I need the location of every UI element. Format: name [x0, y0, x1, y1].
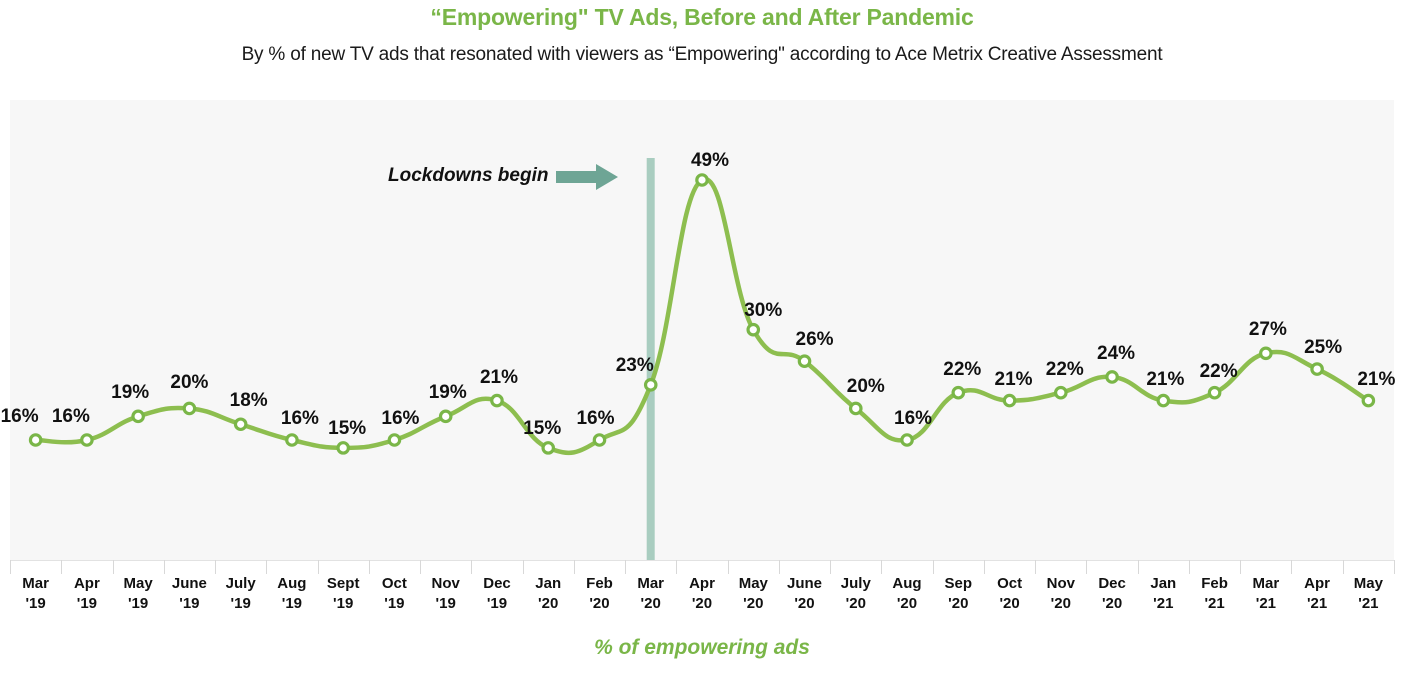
x-axis-tick-label: Dec'20 [1098, 574, 1126, 614]
axis-tick [1189, 560, 1190, 574]
x-label-month: Dec [483, 575, 511, 592]
axis-tick [779, 560, 780, 574]
data-point-marker[interactable] [1209, 388, 1219, 398]
x-axis-tick-label: July'19 [226, 574, 256, 614]
data-point-label: 30% [744, 300, 782, 322]
axis-tick-group [10, 560, 1394, 574]
x-axis-tick-label: Mar'21 [1253, 574, 1280, 614]
x-label-year: '20 [535, 594, 561, 614]
data-point-label: 16% [1, 406, 39, 428]
data-point-marker[interactable] [799, 356, 809, 366]
x-label-year: '19 [432, 594, 460, 614]
x-axis-tick-label: Jan'21 [1150, 574, 1176, 614]
x-label-year: '20 [787, 594, 822, 614]
data-point-marker[interactable] [82, 435, 92, 445]
x-label-month: Apr [74, 575, 100, 592]
axis-tick [1394, 560, 1395, 574]
data-point-label: 16% [281, 408, 319, 430]
x-label-month: Nov [432, 575, 460, 592]
x-axis-labels: Mar'19Apr'19May'19June'19July'19Aug'19Se… [10, 574, 1394, 622]
data-point-marker[interactable] [697, 175, 707, 185]
x-axis-tick-label: Oct'20 [997, 574, 1022, 614]
data-point-marker[interactable] [1312, 364, 1322, 374]
axis-tick [1086, 560, 1087, 574]
x-label-month: Feb [1201, 575, 1228, 592]
x-label-year: '19 [277, 594, 306, 614]
x-axis-tick-label: Mar'19 [22, 574, 49, 614]
x-label-year: '20 [841, 594, 871, 614]
data-point-marker[interactable] [851, 403, 861, 413]
x-label-year: '20 [637, 594, 664, 614]
data-point-label: 18% [230, 390, 268, 412]
data-point-label: 21% [1357, 369, 1395, 391]
lockdown-annotation-label: Lockdowns begin [388, 165, 548, 187]
x-label-year: '20 [997, 594, 1022, 614]
data-point-marker[interactable] [1158, 395, 1168, 405]
data-point-label: 21% [480, 367, 518, 389]
axis-tick [61, 560, 62, 574]
data-point-label: 22% [1046, 359, 1084, 381]
axis-tick [164, 560, 165, 574]
x-label-month: Sept [327, 575, 360, 592]
axis-tick [1035, 560, 1036, 574]
x-label-year: '20 [945, 594, 973, 614]
data-point-marker[interactable] [389, 435, 399, 445]
data-point-marker[interactable] [492, 395, 502, 405]
data-point-label: 24% [1097, 343, 1135, 365]
x-axis-tick-label: Dec'19 [483, 574, 511, 614]
x-label-month: Mar [1253, 575, 1280, 592]
x-label-month: Jan [1150, 575, 1176, 592]
x-label-year: '19 [172, 594, 207, 614]
axis-tick [266, 560, 267, 574]
x-axis-tick-label: Nov'19 [432, 574, 460, 614]
page-subtitle: By % of new TV ads that resonated with v… [0, 44, 1404, 66]
axis-tick [574, 560, 575, 574]
x-axis-tick-label: Feb'21 [1201, 574, 1228, 614]
data-point-label: 16% [381, 408, 419, 430]
axis-tick [676, 560, 677, 574]
data-point-marker[interactable] [1056, 388, 1066, 398]
data-point-marker[interactable] [748, 325, 758, 335]
data-point-marker[interactable] [1004, 395, 1014, 405]
x-axis-tick-label: June'19 [172, 574, 207, 614]
x-axis-tick-label: Sept'19 [327, 574, 360, 614]
x-label-year: '20 [892, 594, 921, 614]
data-point-label: 16% [576, 408, 614, 430]
x-label-year: '21 [1253, 594, 1280, 614]
data-point-label: 21% [1146, 369, 1184, 391]
axis-tick [830, 560, 831, 574]
x-label-year: '20 [1098, 594, 1126, 614]
x-label-month: July [841, 575, 871, 592]
data-point-label: 21% [995, 369, 1033, 391]
data-point-marker[interactable] [902, 435, 912, 445]
data-point-marker[interactable] [1107, 372, 1117, 382]
data-point-label: 20% [170, 372, 208, 394]
x-label-month: May [1354, 575, 1383, 592]
axis-tick [215, 560, 216, 574]
data-point-label: 15% [523, 418, 561, 440]
x-label-year: '21 [1354, 594, 1383, 614]
x-axis-tick-label: Jan'20 [535, 574, 561, 614]
data-point-marker[interactable] [1363, 395, 1373, 405]
x-axis-tick-label: Apr'20 [689, 574, 715, 614]
x-label-year: '21 [1304, 594, 1330, 614]
axis-tick [10, 560, 11, 574]
x-axis-tick-label: July'20 [841, 574, 871, 614]
data-point-marker[interactable] [441, 411, 451, 421]
data-point-marker[interactable] [338, 443, 348, 453]
x-label-year: '20 [586, 594, 613, 614]
x-label-month: Nov [1047, 575, 1075, 592]
x-label-month: May [124, 575, 153, 592]
data-point-marker[interactable] [235, 419, 245, 429]
x-axis-tick-label: May'19 [124, 574, 153, 614]
x-label-month: Aug [892, 575, 921, 592]
data-point-label: 49% [691, 150, 729, 172]
axis-tick [523, 560, 524, 574]
x-label-month: Apr [1304, 575, 1330, 592]
x-axis-tick-label: Sep'20 [945, 574, 973, 614]
x-label-month: July [226, 575, 256, 592]
axis-caption: % of empowering ads [0, 636, 1404, 660]
x-axis-tick-label: June'20 [787, 574, 822, 614]
data-point-marker[interactable] [287, 435, 297, 445]
x-label-year: '19 [22, 594, 49, 614]
x-label-month: May [739, 575, 768, 592]
axis-tick [113, 560, 114, 574]
data-point-label: 25% [1304, 337, 1342, 359]
x-axis-tick-label: Aug'19 [277, 574, 306, 614]
data-point-marker[interactable] [30, 435, 40, 445]
data-point-marker[interactable] [953, 388, 963, 398]
right-arrow-icon [556, 164, 618, 190]
axis-tick [984, 560, 985, 574]
x-label-year: '21 [1150, 594, 1176, 614]
axis-tick [1343, 560, 1344, 574]
x-label-month: June [172, 575, 207, 592]
x-axis-tick-label: Oct'19 [382, 574, 407, 614]
data-point-marker[interactable] [1261, 348, 1271, 358]
data-point-label: 15% [328, 418, 366, 440]
data-point-label: 22% [1200, 361, 1238, 383]
data-point-label: 16% [52, 406, 90, 428]
x-label-year: '19 [124, 594, 153, 614]
data-point-marker[interactable] [184, 403, 194, 413]
axis-tick [1138, 560, 1139, 574]
x-label-month: Oct [382, 575, 407, 592]
x-label-month: Oct [997, 575, 1022, 592]
data-point-marker[interactable] [133, 411, 143, 421]
x-label-month: Sep [945, 575, 973, 592]
x-label-year: '19 [483, 594, 511, 614]
x-label-year: '19 [382, 594, 407, 614]
x-label-year: '19 [226, 594, 256, 614]
x-axis-tick-label: Apr'21 [1304, 574, 1330, 614]
page-title: “Empowering" TV Ads, Before and After Pa… [0, 4, 1404, 31]
data-point-marker[interactable] [646, 380, 656, 390]
axis-tick [369, 560, 370, 574]
axis-tick [318, 560, 319, 574]
data-point-label: 19% [429, 382, 467, 404]
x-label-month: Apr [689, 575, 715, 592]
axis-tick [1240, 560, 1241, 574]
x-label-year: '20 [689, 594, 715, 614]
data-point-label: 16% [894, 408, 932, 430]
x-label-year: '19 [74, 594, 100, 614]
data-point-marker[interactable] [594, 435, 604, 445]
x-label-year: '20 [739, 594, 768, 614]
axis-tick [881, 560, 882, 574]
axis-tick [625, 560, 626, 574]
x-axis-tick-label: Aug'20 [892, 574, 921, 614]
x-label-year: '20 [1047, 594, 1075, 614]
chart-page: “Empowering" TV Ads, Before and After Pa… [0, 0, 1404, 680]
data-point-label: 19% [111, 382, 149, 404]
x-axis-tick-label: Apr'19 [74, 574, 100, 614]
x-label-month: Dec [1098, 575, 1126, 592]
data-point-label: 26% [796, 329, 834, 351]
x-axis-tick-label: Feb'20 [586, 574, 613, 614]
x-label-month: Aug [277, 575, 306, 592]
data-point-label: 22% [943, 359, 981, 381]
axis-tick [933, 560, 934, 574]
axis-tick [471, 560, 472, 574]
data-point-label: 23% [616, 355, 654, 377]
x-label-month: June [787, 575, 822, 592]
x-label-month: Mar [22, 575, 49, 592]
x-label-year: '19 [327, 594, 360, 614]
data-point-label: 20% [847, 376, 885, 398]
x-label-year: '21 [1201, 594, 1228, 614]
data-point-label: 27% [1249, 319, 1287, 341]
x-axis-tick-label: May'20 [739, 574, 768, 614]
x-label-month: Jan [535, 575, 561, 592]
x-axis-tick-label: Nov'20 [1047, 574, 1075, 614]
x-axis-tick-label: May'21 [1354, 574, 1383, 614]
data-point-marker[interactable] [543, 443, 553, 453]
axis-tick [420, 560, 421, 574]
axis-tick [728, 560, 729, 574]
x-label-month: Feb [586, 575, 613, 592]
x-axis-tick-label: Mar'20 [637, 574, 664, 614]
x-label-month: Mar [637, 575, 664, 592]
axis-tick [1291, 560, 1292, 574]
